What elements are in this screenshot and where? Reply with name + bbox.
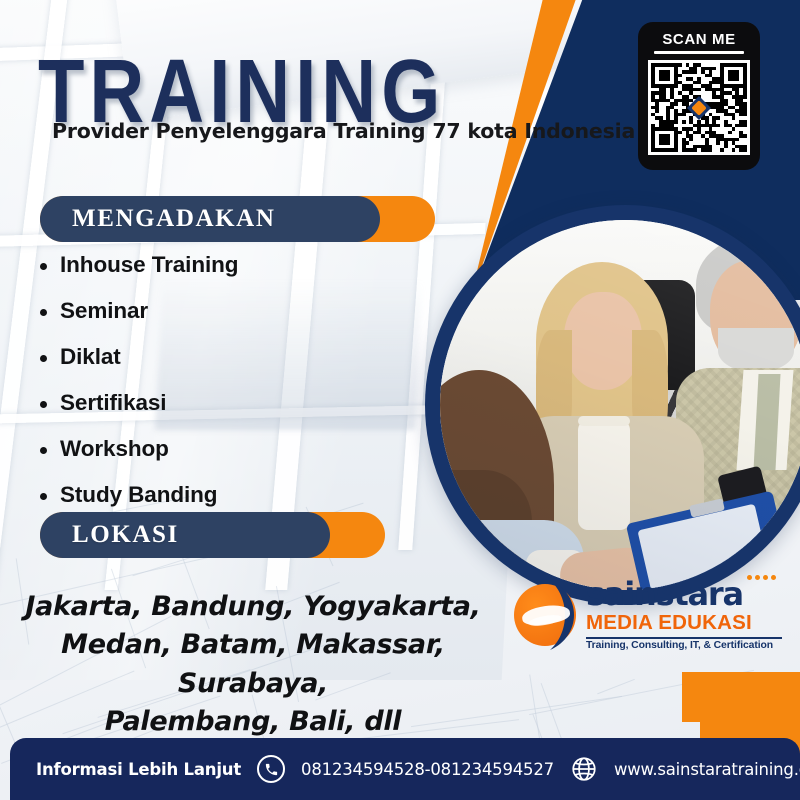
contact-footer: Informasi Lebih Lanjut 081234594528-0812… <box>10 738 800 800</box>
list-item: Study Banding <box>40 482 440 508</box>
list-item: Seminar <box>40 298 440 324</box>
meeting-photo <box>440 220 800 590</box>
footer-label: Informasi Lebih Lanjut <box>36 760 241 779</box>
section-label-mengadakan: MENGADAKAN <box>40 205 276 233</box>
phone-icon <box>257 755 285 783</box>
list-item: Diklat <box>40 344 440 370</box>
bullet-dot-icon <box>40 309 47 316</box>
qr-code-icon[interactable] <box>648 60 750 155</box>
list-item: Inhouse Training <box>40 252 440 278</box>
list-item-label: Seminar <box>60 298 148 324</box>
section-label-lokasi: LOKASI <box>40 521 179 549</box>
location-list: Jakarta, Bandung, Yogyakarta, Medan, Bat… <box>18 588 488 741</box>
qr-title: SCAN ME <box>648 31 750 48</box>
logo-name: sainstara <box>586 578 782 610</box>
pill-navy-body: LOKASI <box>40 512 330 558</box>
pill-navy-body: MENGADAKAN <box>40 196 380 242</box>
list-item-label: Diklat <box>60 344 121 370</box>
logo-subtitle: MEDIA EDUKASI <box>586 611 782 635</box>
company-logo: sainstara MEDIA EDUKASI Training, Consul… <box>512 578 782 660</box>
list-item-label: Inhouse Training <box>60 252 238 278</box>
logo-emblem-icon <box>512 580 584 652</box>
footer-website[interactable]: www.sainstaratraining.com <box>614 760 800 779</box>
logo-divider <box>586 637 782 639</box>
location-line: Palembang, Bali, dll <box>18 703 488 741</box>
bullet-dot-icon <box>40 447 47 454</box>
bullet-dot-icon <box>40 355 47 362</box>
section-header-mengadakan: MENGADAKAN <box>40 196 435 242</box>
bullet-dot-icon <box>40 493 47 500</box>
training-poster: TRAINING Provider Penyelenggara Training… <box>0 0 800 800</box>
footer-phone[interactable]: 081234594528-081234594527 <box>301 760 554 779</box>
list-item-label: Workshop <box>60 436 169 462</box>
section-header-lokasi: LOKASI <box>40 512 385 558</box>
page-subtitle: Provider Penyelenggara Training 77 kota … <box>52 119 635 143</box>
location-line: Medan, Batam, Makassar, Surabaya, <box>18 626 488 703</box>
globe-icon <box>570 755 598 783</box>
services-list: Inhouse Training Seminar Diklat Sertifik… <box>40 252 440 528</box>
logo-tagline: Training, Consulting, IT, & Certificatio… <box>586 640 782 651</box>
list-item: Workshop <box>40 436 440 462</box>
qr-divider <box>654 51 744 54</box>
list-item: Sertifikasi <box>40 390 440 416</box>
bullet-dot-icon <box>40 401 47 408</box>
location-line: Jakarta, Bandung, Yogyakarta, <box>18 588 488 626</box>
logo-dots-icon <box>747 575 776 580</box>
bullet-dot-icon <box>40 263 47 270</box>
list-item-label: Study Banding <box>60 482 217 508</box>
list-item-label: Sertifikasi <box>60 390 166 416</box>
qr-scan-card[interactable]: SCAN ME <box>638 22 760 170</box>
